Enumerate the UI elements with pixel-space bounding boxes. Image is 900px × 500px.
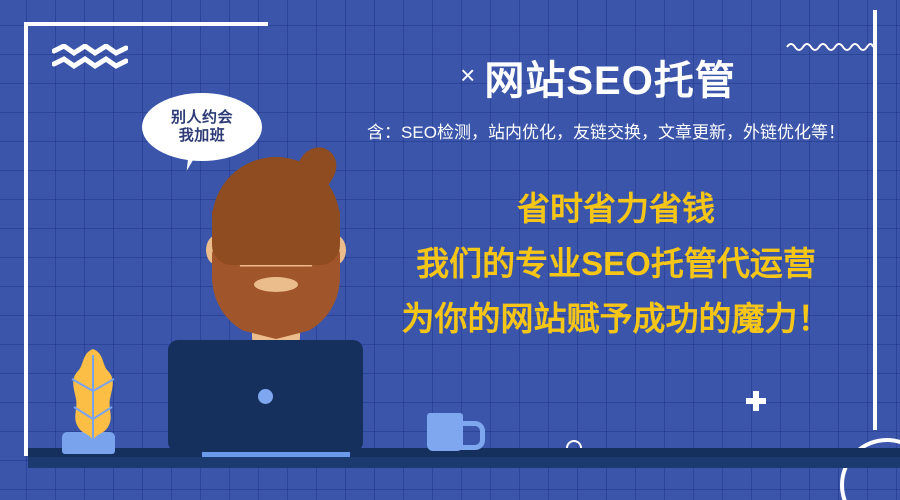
laptop-logo-icon [258, 389, 273, 404]
coffee-mug [427, 413, 463, 451]
page-title: ×网站SEO托管 [336, 48, 860, 106]
promo-line-2: 我们的专业SEO托管代运营 [362, 247, 870, 280]
speech-bubble-line-1: 别人约会 [171, 109, 233, 127]
promo-block: 省时省力省钱 我们的专业SEO托管代运营 为你的网站赋予成功的魔力！ [362, 192, 870, 335]
promo-line-1: 省时省力省钱 [362, 192, 870, 225]
speech-bubble-line-2: 我加班 [179, 127, 226, 145]
potted-plant-icon [58, 345, 128, 455]
frame-line-right [873, 10, 877, 430]
subtitle-text: 含：SEO检测，站内优化，友链交换，文章更新，外链优化等！ [336, 118, 876, 143]
promo-line-3: 为你的网站赋予成功的魔力！ [362, 302, 870, 335]
headline-text: 网站SEO托管 [484, 59, 735, 103]
multiply-icon: × [460, 60, 476, 90]
speech-bubble: 别人约会 我加班 [142, 93, 262, 161]
person-mouth [254, 277, 298, 292]
double-wave-icon [52, 44, 128, 70]
seo-hosting-banner: 别人约会 我加班 ×网站SEO托管 含：SEO检测，站内优化，友链交换，文章更新… [0, 0, 900, 500]
plus-icon [746, 391, 766, 411]
